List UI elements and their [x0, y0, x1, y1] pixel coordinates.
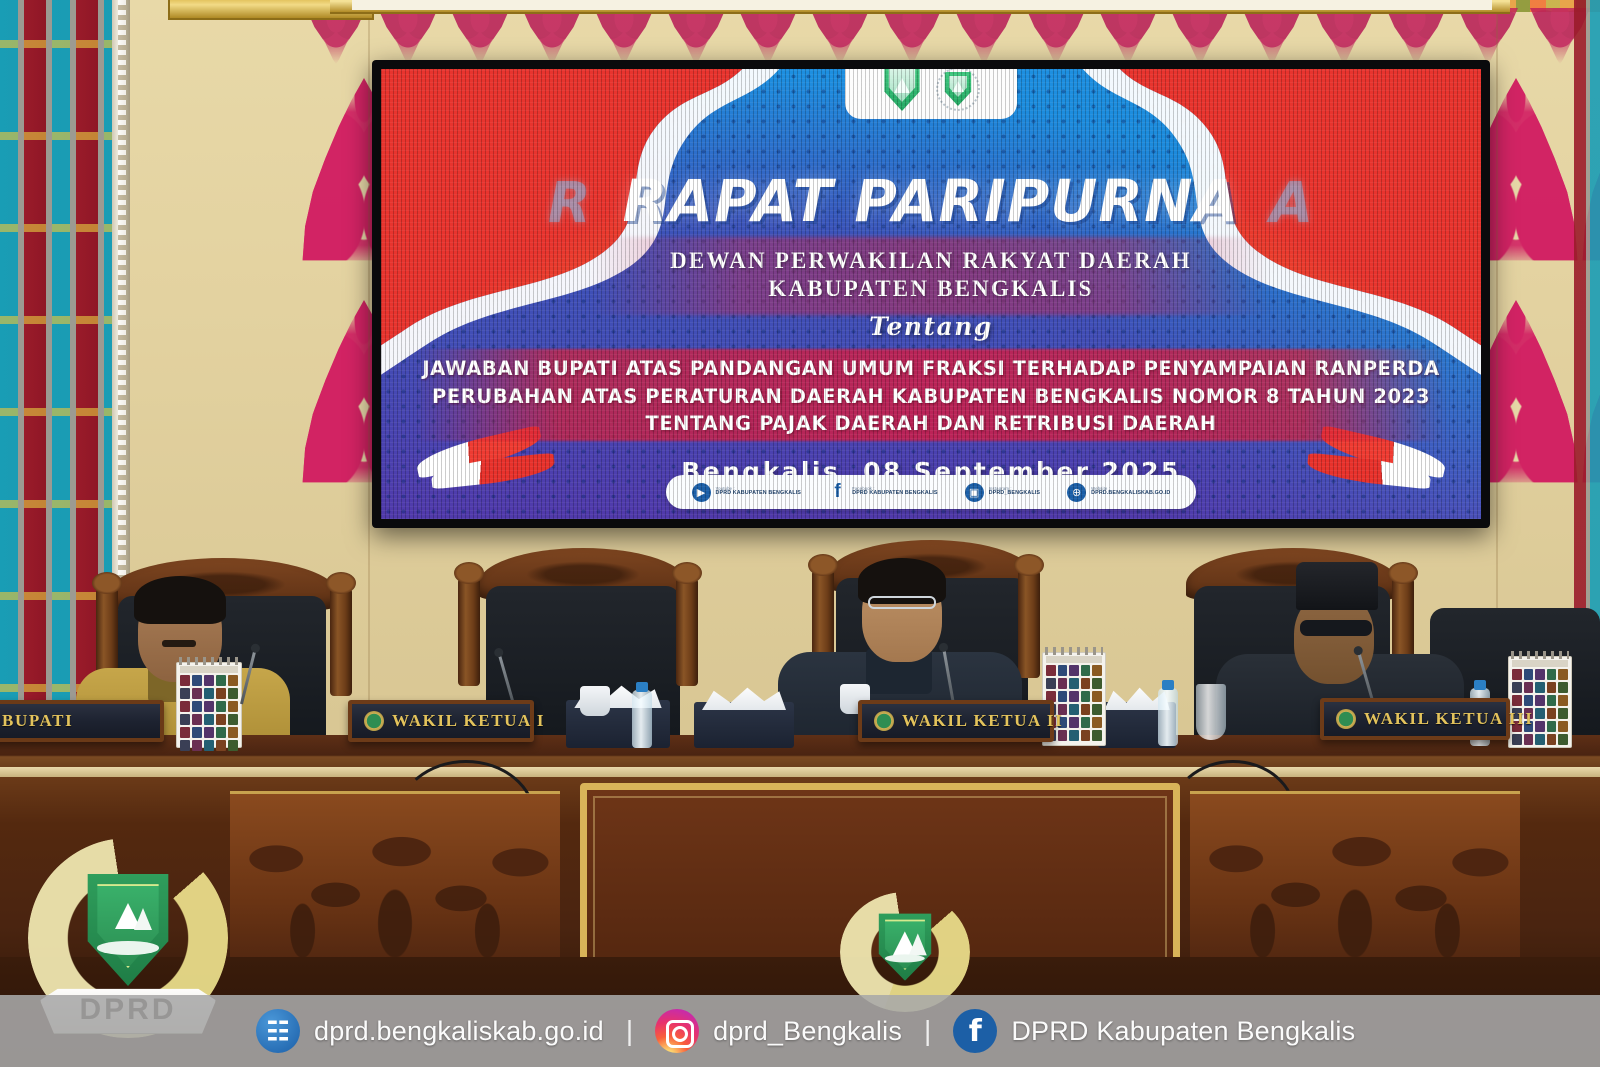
- calendar-photo-cell: [1081, 678, 1091, 689]
- calendar-photo-cell: [216, 701, 226, 712]
- calendar-photo-cell: [1046, 665, 1056, 676]
- calendar-photo-cell: [204, 727, 214, 738]
- calendar-photo-cell: [204, 688, 214, 699]
- calendar-photo-cell: [1092, 665, 1102, 676]
- calendar-photo-cell: [1512, 669, 1522, 680]
- youtube-icon: ▶: [692, 483, 711, 502]
- led-tentang-label: Tentang: [381, 312, 1481, 341]
- calendar-photo-cell: [1069, 704, 1079, 715]
- calendar-photo-cell: [228, 701, 238, 712]
- calendar-photo-cell: [216, 727, 226, 738]
- led-social-pill: ▶Youtube :DPRD KABUPATEN BENGKALISfFaceb…: [666, 475, 1196, 509]
- nameplate-wakil-ketua-3: WAKIL KETUA III: [1320, 698, 1510, 740]
- led-social-item: ⊕Website :DPRD.BENGKALISKAB.GO.ID: [1067, 483, 1170, 502]
- subject-line-1: JAWABAN BUPATI ATAS PANDANGAN UMUM FRAKS…: [405, 355, 1457, 383]
- water-bottle-wk1[interactable]: [632, 690, 652, 748]
- water-bottle-wk3-left[interactable]: [1158, 688, 1178, 746]
- calendar-photo-cell: [1092, 704, 1102, 715]
- desk-calendar-bupati[interactable]: [176, 662, 242, 748]
- led-social-text: Facebook :DPRD KABUPATEN BENGKALIS: [852, 487, 937, 497]
- led-social-text: Instagram :DPRD_BENGKALIS: [989, 487, 1040, 497]
- calendar-photo-cell: [1558, 682, 1568, 693]
- instagram-icon: ▣: [965, 483, 984, 502]
- calendar-photo-cell: [1512, 734, 1522, 745]
- led-social-text: Youtube :DPRD KABUPATEN BENGKALIS: [716, 487, 801, 497]
- bottom-social-banner: ☷dprd.bengkaliskab.go.id|dprd_Bengkalis|…: [0, 995, 1600, 1067]
- calendar-photo-cell: [1547, 682, 1557, 693]
- calendar-photo-cell: [192, 740, 202, 751]
- calendar-photo-cell: [1547, 669, 1557, 680]
- institution-line-1: DEWAN PERWAKILAN RAKYAT DAERAH: [381, 247, 1481, 275]
- calendar-photo-cell: [1081, 730, 1091, 741]
- led-social-handle: DPRD_BENGKALIS: [989, 491, 1040, 497]
- calendar-photo-cell: [192, 701, 202, 712]
- calendar-photo-cell: [192, 727, 202, 738]
- nameplate-wk1-label: WAKIL KETUA I: [392, 711, 545, 731]
- chair-post: [676, 578, 698, 686]
- led-social-item: ▣Instagram :DPRD_BENGKALIS: [965, 483, 1040, 502]
- wk3-peci-cap: [1296, 562, 1378, 610]
- calendar-photo-cell: [1535, 682, 1545, 693]
- banner-item[interactable]: dprd_Bengkalis: [655, 1009, 902, 1053]
- nameplate-wk2-label: WAKIL KETUA II: [902, 711, 1063, 731]
- dprd-seal-icon: [364, 711, 384, 731]
- led-logo-header: [845, 69, 1017, 119]
- tissue-box-center[interactable]: [694, 702, 794, 748]
- calendar-photo-cell: [204, 701, 214, 712]
- calendar-photo-cell: [1081, 691, 1091, 702]
- calendar-photo-cell: [216, 675, 226, 686]
- calendar-photo-cell: [1069, 678, 1079, 689]
- chair-post: [458, 578, 480, 686]
- wk2-eyeglasses: [868, 596, 936, 609]
- calendar-photo-cell: [1558, 695, 1568, 706]
- led-headline-block: R RAPAT PARIPURNA A RAPAT PARIPURNA: [381, 167, 1481, 235]
- wall-seam: [368, 0, 370, 760]
- calendar-photo-cell: [1046, 678, 1056, 689]
- banner-item[interactable]: ☷dprd.bengkaliskab.go.id: [256, 1009, 604, 1053]
- calendar-photo-cell: [204, 740, 214, 751]
- nameplate-wakil-ketua-2: WAKIL KETUA II: [858, 700, 1054, 742]
- nameplate-bupati: BUPATI: [0, 700, 164, 742]
- calendar-photo-cell: [228, 714, 238, 725]
- calendar-photo-cell: [1058, 691, 1068, 702]
- water-glass-wk3[interactable]: [1196, 684, 1226, 740]
- calendar-photo-cell: [1058, 665, 1068, 676]
- wk3-sunglasses: [1300, 620, 1372, 636]
- calendar-photo-cell: [1547, 695, 1557, 706]
- calendar-photo-cell: [1092, 678, 1102, 689]
- calendar-photo-cell: [1081, 665, 1091, 676]
- website-icon: ⊕: [1067, 483, 1086, 502]
- calendar-photo-cell: [1524, 695, 1534, 706]
- calendar-photo-cell: [180, 701, 190, 712]
- led-display: R RAPAT PARIPURNA A RAPAT PARIPURNA DEWA…: [381, 69, 1481, 519]
- calendar-photo-cell: [1547, 708, 1557, 719]
- calendar-photo-cell: [192, 688, 202, 699]
- dprd-seal-icon: [1336, 709, 1356, 729]
- calendar-photo-cell: [1547, 734, 1557, 745]
- calendar-spiral: [1511, 651, 1569, 659]
- instagram-icon[interactable]: [655, 1009, 699, 1053]
- facebook-icon: f: [828, 483, 847, 502]
- carved-wood-panel-left: [230, 791, 560, 977]
- calendar-photo-cell: [192, 675, 202, 686]
- calendar-photo-cell: [180, 740, 190, 751]
- led-display-bezel: R RAPAT PARIPURNA A RAPAT PARIPURNA DEWA…: [372, 60, 1490, 528]
- banner-item-label: dprd.bengkaliskab.go.id: [314, 1016, 604, 1047]
- nameplate-wakil-ketua-1: WAKIL KETUA I: [348, 700, 534, 742]
- calendar-photo-cell: [180, 675, 190, 686]
- calendar-photo-cell: [1069, 665, 1079, 676]
- led-social-handle: DPRD KABUPATEN BENGKALIS: [716, 491, 801, 497]
- led-institution: DEWAN PERWAKILAN RAKYAT DAERAH KABUPATEN…: [381, 247, 1481, 303]
- calendar-photo-cell: [1535, 695, 1545, 706]
- calendar-photo-cell: [180, 727, 190, 738]
- banner-item[interactable]: fDPRD Kabupaten Bengkalis: [953, 1009, 1355, 1053]
- desk-calendar-right[interactable]: [1508, 656, 1572, 748]
- calendar-photo-cell: [1535, 708, 1545, 719]
- calendar-photo-cell: [1558, 669, 1568, 680]
- calendar-photo-cell: [1558, 721, 1568, 732]
- calendar-photo-cell: [1092, 730, 1102, 741]
- banner-item-label: DPRD Kabupaten Bengkalis: [1011, 1016, 1355, 1047]
- bupati-moustache: [162, 640, 196, 647]
- calendar-photo-cell: [1058, 730, 1068, 741]
- led-headline: RAPAT PARIPURNA: [381, 167, 1481, 235]
- chair-post: [1018, 570, 1040, 678]
- dprd-seal-icon: [874, 711, 894, 731]
- led-social-handle: DPRD.BENGKALISKAB.GO.ID: [1091, 491, 1170, 497]
- bupati-hair: [134, 576, 226, 624]
- calendar-photo-cell: [204, 714, 214, 725]
- facebook-icon[interactable]: f: [953, 1009, 997, 1053]
- calendar-photo-cell: [1081, 717, 1091, 728]
- dprd-bengkalis-emblem-icon: [936, 69, 980, 111]
- led-social-item: fFacebook :DPRD KABUPATEN BENGKALIS: [828, 483, 937, 502]
- drinking-cup-wk1[interactable]: [580, 686, 610, 716]
- institution-line-2: KABUPATEN BENGKALIS: [381, 275, 1481, 303]
- calendar-photo-cell: [216, 740, 226, 751]
- calendar-spiral: [179, 657, 239, 665]
- website-icon[interactable]: ☷: [256, 1009, 300, 1053]
- banner-separator: |: [918, 1015, 937, 1047]
- calendar-photo-cell: [1058, 678, 1068, 689]
- calendar-photo-cell: [1558, 734, 1568, 745]
- nameplate-bupati-label: BUPATI: [2, 711, 73, 731]
- calendar-photo-cell: [216, 688, 226, 699]
- calendar-photo-cell: [1512, 682, 1522, 693]
- calendar-photo-cell: [1535, 734, 1545, 745]
- banner-separator: |: [620, 1015, 639, 1047]
- banner-item-label: dprd_Bengkalis: [713, 1016, 902, 1047]
- calendar-photo-cell: [228, 727, 238, 738]
- dais-center-emblem: [840, 892, 970, 1012]
- calendar-photo-cell: [1547, 721, 1557, 732]
- calendar-photo-cell: [192, 714, 202, 725]
- calendar-photo-cell: [1092, 717, 1102, 728]
- wall-frame-inner: [352, 0, 1492, 10]
- calendar-photo-cell: [1535, 669, 1545, 680]
- calendar-photo-cell: [1558, 708, 1568, 719]
- calendar-photo-cell: [1512, 695, 1522, 706]
- calendar-photo-cell: [1535, 721, 1545, 732]
- calendar-photo-cell: [1081, 704, 1091, 715]
- calendar-photo-cell: [1092, 691, 1102, 702]
- calendar-photo-cell: [1524, 682, 1534, 693]
- subject-line-3: TENTANG PAJAK DAERAH DAN RETRIBUSI DAERA…: [405, 410, 1457, 438]
- carved-wood-panel-right: [1190, 791, 1520, 977]
- bengkalis-regency-emblem-icon: [882, 69, 922, 111]
- calendar-photo-cell: [1524, 669, 1534, 680]
- led-social-text: Website :DPRD.BENGKALISKAB.GO.ID: [1091, 487, 1170, 497]
- subject-line-2: PERUBAHAN ATAS PERATURAN DAERAH KABUPATE…: [405, 383, 1457, 411]
- chair-post: [330, 588, 352, 696]
- led-subject-block: JAWABAN BUPATI ATAS PANDANGAN UMUM FRAKS…: [381, 355, 1481, 438]
- calendar-photo-cell: [1069, 691, 1079, 702]
- led-social-item: ▶Youtube :DPRD KABUPATEN BENGKALIS: [692, 483, 801, 502]
- calendar-photo-cell: [1524, 734, 1534, 745]
- calendar-photo-cell: [180, 688, 190, 699]
- calendar-photo-cell: [204, 675, 214, 686]
- calendar-photo-cell: [1069, 730, 1079, 741]
- calendar-photo-cell: [228, 740, 238, 751]
- nameplate-wk3-label: WAKIL KETUA III: [1364, 709, 1534, 729]
- calendar-photo-cell: [180, 714, 190, 725]
- calendar-spiral: [1045, 647, 1103, 655]
- led-social-handle: DPRD KABUPATEN BENGKALIS: [852, 491, 937, 497]
- scene-root: R RAPAT PARIPURNA A RAPAT PARIPURNA DEWA…: [0, 0, 1600, 1067]
- calendar-photo-cell: [228, 675, 238, 686]
- calendar-photo-cell: [216, 714, 226, 725]
- calendar-photo-cell: [228, 688, 238, 699]
- calendar-photo-cell: [1069, 717, 1079, 728]
